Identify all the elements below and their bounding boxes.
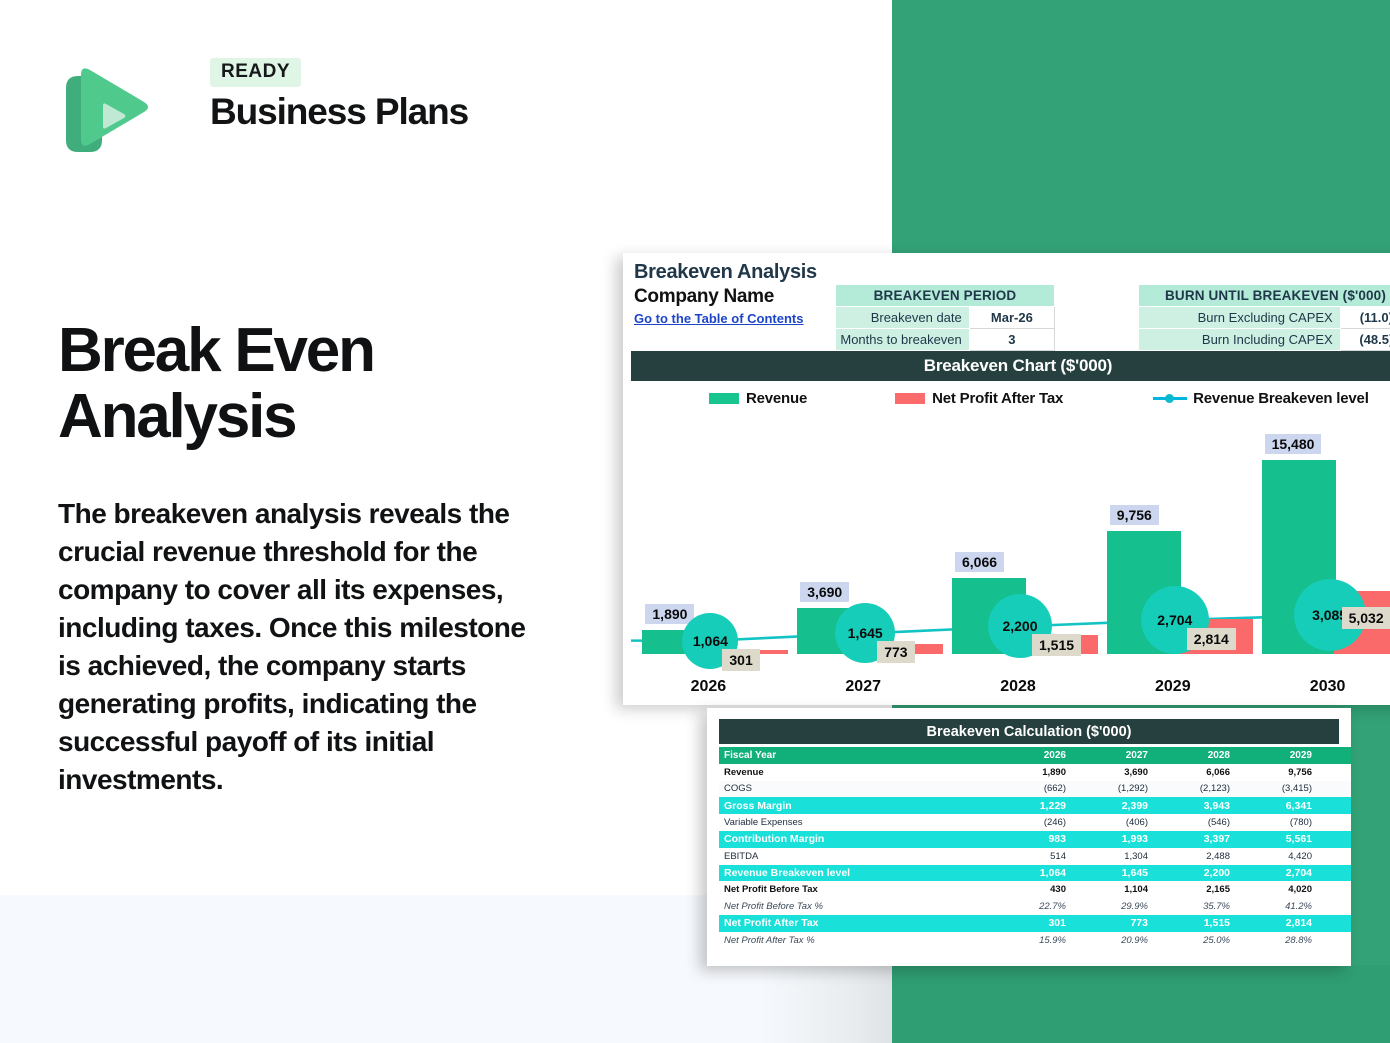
table-cell: 2,200 [1153,865,1235,882]
data-label-net-profit-after-tax: 301 [722,649,759,671]
breakeven-sheet-card: Breakeven Analysis Company Name Go to th… [623,253,1390,705]
table-row: Burn Including CAPEX (48.5) [1139,329,1390,351]
row-label: Contribution Margin [719,831,989,848]
page-title: Break Even Analysis [58,318,578,451]
row-label: Revenue [719,764,989,781]
legend-label: Revenue [746,390,807,407]
legend-line-marker-icon [1153,392,1187,404]
legend-item-revenue-breakeven-level[interactable]: Revenue Breakeven level [1153,390,1369,407]
table-cell: 35.7% [1153,898,1235,915]
table-cell: 1,993 [1071,831,1153,848]
table-cell: 15.9% [989,932,1071,949]
table-row: Net Profit After Tax %15.9%20.9%25.0%28.… [719,932,1351,949]
table-cell: 28.8% [1235,932,1317,949]
table-cell: (246) [989,814,1071,831]
table-row: Variable Expenses(246)(406)(546)(780)(1,… [719,814,1351,831]
brand-wordmark: READY Business Plans [210,58,500,130]
table-row: Gross Margin1,2292,3993,9436,34110,062 [719,797,1351,814]
breakeven-date-label: Breakeven date [836,307,970,329]
table-row: Revenue Breakeven level1,0641,6452,2002,… [719,865,1351,882]
burn-header: BURN UNTIL BREAKEVEN ($'000) [1139,285,1390,307]
column-header: 2026 [989,747,1071,764]
data-label-revenue: 9,756 [1110,505,1159,525]
table-cell: (5,418) [1317,781,1351,798]
x-axis-label: 2027 [808,678,918,696]
table-cell: 3,690 [1071,764,1153,781]
column-header: 2029 [1235,747,1317,764]
x-axis-label: 2028 [963,678,1073,696]
table-cell: 41.2% [1235,898,1317,915]
legend-item-net-profit-after-tax[interactable]: Net Profit After Tax [895,390,1063,407]
row-label: Variable Expenses [719,814,989,831]
burn-including-capex-value[interactable]: (48.5) [1340,329,1390,351]
data-label-net-profit-after-tax: 773 [877,641,914,663]
row-label: COGS [719,781,989,798]
table-cell: 4,420 [1235,848,1317,865]
table-cell: 514 [989,848,1071,865]
data-label-revenue: 15,480 [1265,434,1322,454]
table-cell: 7,592 [1317,848,1351,865]
table-cell: 1,104 [1071,881,1153,898]
table-cell: 32.5% [1317,932,1351,949]
legend-label: Revenue Breakeven level [1193,390,1369,407]
table-cell: (3,415) [1235,781,1317,798]
table-cell: 1,890 [989,764,1071,781]
table-header-row: Fiscal Year20262027202820292030 [719,747,1351,764]
table-row: Net Profit After Tax3017731,5152,8145,03… [719,915,1351,932]
breakeven-chart-plot: 202620272028202920301,8901,0643013,6901,… [631,421,1390,701]
table-cell: (406) [1071,814,1153,831]
months-to-breakeven-value[interactable]: 3 [969,329,1054,351]
x-axis-label: 2029 [1118,678,1228,696]
table-cell: 2,165 [1153,881,1235,898]
table-row: Breakeven date Mar-26 [836,307,1055,329]
table-cell: 29.9% [1071,898,1153,915]
table-cell: (1,292) [1071,781,1153,798]
table-cell: 2,814 [1235,915,1317,932]
table-cell: 25.0% [1153,932,1235,949]
legend-swatch-icon [709,393,739,404]
column-header: 2030 [1317,747,1351,764]
table-row: Revenue1,8903,6906,0669,75615,480 [719,764,1351,781]
table-cell: 3,397 [1153,831,1235,848]
table-cell: 10,062 [1317,797,1351,814]
burn-excluding-capex-value[interactable]: (11.0) [1340,307,1390,329]
legend-item-revenue[interactable]: Revenue [709,390,807,407]
brand-logo: READY Business Plans [60,58,440,163]
hero-paragraph: The breakeven analysis reveals the cruci… [58,495,553,799]
data-label-net-profit-after-tax: 1,515 [1032,634,1081,656]
data-label-net-profit-after-tax: 2,814 [1187,628,1236,650]
table-cell: 7,189 [1317,881,1351,898]
chart-title-banner: Breakeven Chart ($'000) [631,351,1390,381]
table-row: Net Profit Before Tax %22.7%29.9%35.7%41… [719,898,1351,915]
table-cell: 46.4% [1317,898,1351,915]
row-label: Net Profit Before Tax % [719,898,989,915]
background-block-top-right [892,0,1390,253]
table-cell: 4,020 [1235,881,1317,898]
table-cell: 773 [1071,915,1153,932]
months-to-breakeven-label: Months to breakeven [836,329,970,351]
table-cell: 2,399 [1071,797,1153,814]
brand-badge: READY [210,58,301,87]
row-label: EBITDA [719,848,989,865]
sheet-subtitle: Company Name [634,286,774,308]
table-row: Burn Excluding CAPEX (11.0) [1139,307,1390,329]
table-cell: 1,645 [1071,865,1153,882]
table-cell: 5,561 [1235,831,1317,848]
table-cell: 15,480 [1317,764,1351,781]
table-row: Net Profit Before Tax4301,1042,1654,0207… [719,881,1351,898]
background-block-bottom-right [892,965,1390,1043]
table-row: EBITDA5141,3042,4884,4207,592 [719,848,1351,865]
data-label-revenue: 1,890 [645,604,694,624]
column-header: Fiscal Year [719,747,989,764]
table-row: BURN UNTIL BREAKEVEN ($'000) [1139,285,1390,307]
sheet-header: Breakeven Analysis Company Name Go to th… [623,253,1390,345]
table-cell: 1,515 [1153,915,1235,932]
table-cell: 22.7% [989,898,1071,915]
row-label: Net Profit Before Tax [719,881,989,898]
table-cell: 3,943 [1153,797,1235,814]
data-label-revenue: 3,690 [800,582,849,602]
row-label: Gross Margin [719,797,989,814]
table-cell: 5,032 [1317,915,1351,932]
table-cell: 1,064 [989,865,1071,882]
data-label-revenue: 6,066 [955,552,1004,572]
table-cell: 20.9% [1071,932,1153,949]
table-row: Contribution Margin9831,9933,3975,5618,9… [719,831,1351,848]
table-cell: (1,084) [1317,814,1351,831]
table-cell: (662) [989,781,1071,798]
brand-name: Business Plans [210,93,500,130]
table-of-contents-link[interactable]: Go to the Table of Contents [634,311,803,326]
breakeven-period-header: BREAKEVEN PERIOD [836,285,1055,307]
table-cell: 6,066 [1153,764,1235,781]
breakeven-date-value[interactable]: Mar-26 [969,307,1054,329]
table-cell: 2,488 [1153,848,1235,865]
row-label: Net Profit After Tax [719,915,989,932]
table-cell: (2,123) [1153,781,1235,798]
breakeven-calculation-card: Breakeven Calculation ($'000) Fiscal Yea… [707,708,1351,966]
burn-until-breakeven-table: BURN UNTIL BREAKEVEN ($'000) Burn Exclud… [1138,284,1390,351]
table-cell: (780) [1235,814,1317,831]
burn-excluding-capex-label: Burn Excluding CAPEX [1139,307,1341,329]
table-cell: 6,341 [1235,797,1317,814]
legend-swatch-icon [895,393,925,404]
table-cell: 1,229 [989,797,1071,814]
column-header: 2028 [1153,747,1235,764]
burn-including-capex-label: Burn Including CAPEX [1139,329,1341,351]
table-cell: 430 [989,881,1071,898]
page-title-line-1: Break Even [58,318,578,384]
table-cell: 9,756 [1235,764,1317,781]
table-cell: 2,704 [1235,865,1317,882]
table-row: BREAKEVEN PERIOD [836,285,1055,307]
sheet-title: Breakeven Analysis [634,261,817,284]
data-label-net-profit-after-tax: 5,032 [1342,607,1390,629]
table-cell: 8,978 [1317,831,1351,848]
row-label: Revenue Breakeven level [719,865,989,882]
row-label: Net Profit After Tax % [719,932,989,949]
table-cell: 3,085 [1317,865,1351,882]
table-row: COGS(662)(1,292)(2,123)(3,415)(5,418) [719,781,1351,798]
breakeven-calculation-table: Fiscal Year20262027202820292030Revenue1,… [719,747,1351,949]
legend-label: Net Profit After Tax [932,390,1063,407]
table-cell: (546) [1153,814,1235,831]
x-axis-label: 2026 [653,678,763,696]
play-triangle-logo-icon [60,58,148,158]
table-cell: 1,304 [1071,848,1153,865]
table-cell: 983 [989,831,1071,848]
breakeven-period-table: BREAKEVEN PERIOD Breakeven date Mar-26 M… [835,284,1055,351]
page-title-line-2: Analysis [58,384,578,450]
x-axis-label: 2030 [1273,678,1383,696]
column-header: 2027 [1071,747,1153,764]
chart-legend: Revenue Net Profit After Tax Revenue Bre… [631,385,1390,411]
table-cell: 301 [989,915,1071,932]
calculation-title-banner: Breakeven Calculation ($'000) [719,719,1339,744]
table-row: Months to breakeven 3 [836,329,1055,351]
